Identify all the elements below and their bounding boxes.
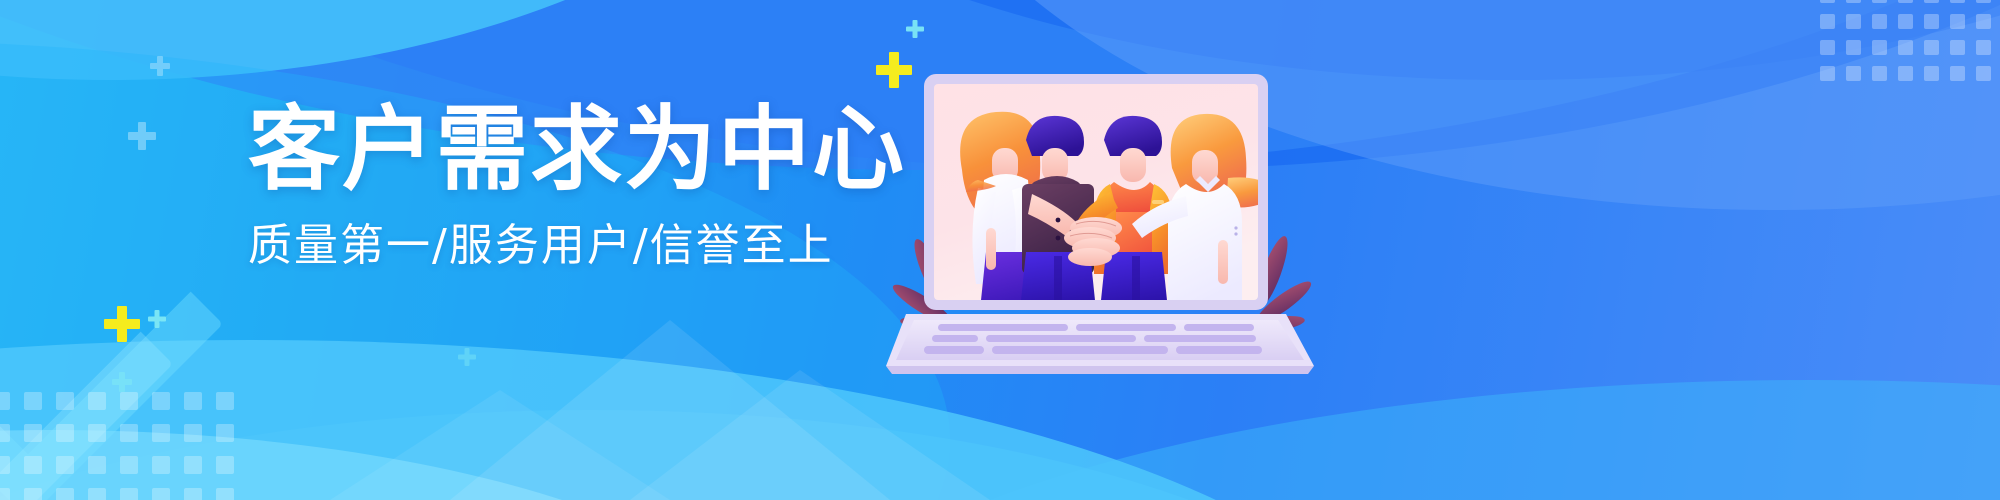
- dot: [1898, 0, 1913, 3]
- dot: [1950, 66, 1965, 81]
- dot: [56, 392, 74, 410]
- dot: [1924, 40, 1939, 55]
- dot: [216, 456, 234, 474]
- dot: [1820, 66, 1835, 81]
- dot: [88, 424, 106, 442]
- dot: [120, 456, 138, 474]
- dot: [1924, 14, 1939, 29]
- banner-root: 客户需求为中心 质量第一/服务用户/信誉至上: [0, 0, 2000, 500]
- dot: [1846, 40, 1861, 55]
- dot: [152, 392, 170, 410]
- dot: [1950, 40, 1965, 55]
- dot: [1950, 14, 1965, 29]
- dot: [152, 456, 170, 474]
- dot: [56, 488, 74, 500]
- dot: [1898, 14, 1913, 29]
- dot: [216, 424, 234, 442]
- dot: [0, 392, 10, 410]
- chevron-shape-2: [0, 169, 173, 500]
- dot: [1872, 0, 1887, 3]
- wave-bottom-cyan: [0, 410, 1440, 500]
- dot: [24, 488, 42, 500]
- wave-top-light: [0, 0, 860, 80]
- dot: [120, 424, 138, 442]
- page-subtitle: 质量第一/服务用户/信誉至上: [248, 222, 868, 270]
- dot: [1976, 14, 1991, 29]
- dot: [1976, 66, 1991, 81]
- dot: [0, 488, 10, 500]
- dot-grid-top-right: [1820, 0, 2000, 92]
- dot: [1950, 0, 1965, 3]
- dot: [1872, 66, 1887, 81]
- dot: [1872, 40, 1887, 55]
- wave-right-bottom: [760, 380, 2000, 500]
- dot: [1976, 40, 1991, 55]
- laptop-svg: [900, 52, 1340, 382]
- dot: [184, 488, 202, 500]
- dot: [0, 424, 10, 442]
- dot: [1976, 0, 1991, 3]
- plus-cyan-lowleft: [112, 372, 132, 392]
- plus-white-left-a: [150, 56, 170, 76]
- plus-yellow-bottom: [104, 306, 140, 342]
- plus-cyan-small: [906, 20, 924, 38]
- dot: [88, 488, 106, 500]
- dot: [184, 456, 202, 474]
- plus-cyan-bottom: [148, 310, 166, 328]
- plus-cyan-far: [458, 348, 476, 366]
- dot: [1846, 0, 1861, 3]
- dot: [88, 456, 106, 474]
- dot: [216, 392, 234, 410]
- dot: [24, 456, 42, 474]
- page-title: 客户需求为中心: [248, 104, 868, 196]
- dot: [1898, 40, 1913, 55]
- dot: [216, 488, 234, 500]
- dot: [1820, 0, 1835, 3]
- dot: [152, 424, 170, 442]
- dot: [1820, 40, 1835, 55]
- dot: [1924, 66, 1939, 81]
- teamwork-scene: [960, 112, 1280, 310]
- dot: [1924, 0, 1939, 3]
- dot: [1846, 14, 1861, 29]
- dot: [120, 488, 138, 500]
- dot: [184, 392, 202, 410]
- laptop-teamwork-illustration: [900, 52, 1340, 382]
- laptop-foot: [886, 366, 1314, 374]
- chevron-shape-1: [0, 129, 223, 500]
- dot: [1820, 14, 1835, 29]
- dot: [1898, 66, 1913, 81]
- dot: [24, 424, 42, 442]
- dot: [88, 392, 106, 410]
- headline-block: 客户需求为中心 质量第一/服务用户/信誉至上: [248, 104, 868, 270]
- plus-white-left-b: [128, 122, 156, 150]
- dot: [120, 392, 138, 410]
- dot: [152, 488, 170, 500]
- dot: [1846, 66, 1861, 81]
- dot: [184, 424, 202, 442]
- dot: [56, 456, 74, 474]
- keyboard-keys: [924, 324, 1262, 354]
- dot: [1872, 14, 1887, 29]
- wave-bottom-light-2: [0, 430, 800, 500]
- dot: [24, 392, 42, 410]
- dot: [0, 456, 10, 474]
- dot: [56, 424, 74, 442]
- dot-grid-bottom-left: [0, 392, 248, 500]
